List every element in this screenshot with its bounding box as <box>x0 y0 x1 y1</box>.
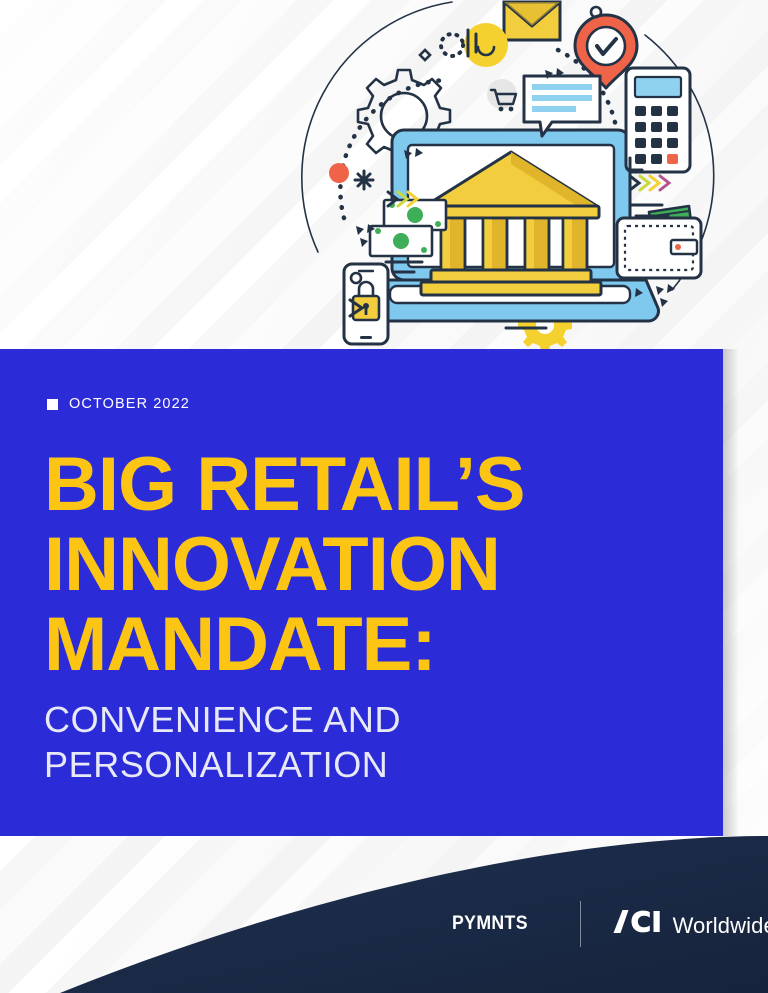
pymnts-logo[interactable]: PYMNTS <box>452 913 528 935</box>
title-line-1: BIG RETAIL’S <box>44 445 714 525</box>
subtitle-line-2: PERSONALIZATION <box>44 742 704 787</box>
logo-divider <box>580 901 581 947</box>
date-label: OCTOBER 2022 <box>69 396 190 412</box>
report-subtitle: CONVENIENCE AND PERSONALIZATION <box>44 697 704 787</box>
aci-worldwide-text: Worldwide <box>673 913 768 939</box>
publication-date: OCTOBER 2022 <box>47 396 190 412</box>
aci-worldwide-logo[interactable]: Worldwide <box>613 910 768 939</box>
subtitle-line-1: CONVENIENCE AND <box>44 697 704 742</box>
report-title: BIG RETAIL’S INNOVATION MANDATE: <box>44 445 714 685</box>
title-line-3: MANDATE: <box>44 605 714 685</box>
report-cover-page: .ln { fill:none; stroke:#243245; stroke-… <box>0 0 768 993</box>
footer-logo-row: PYMNTS Worldwide <box>452 900 768 948</box>
digital-banking-illustration: .ln { fill:none; stroke:#243245; stroke-… <box>300 0 768 360</box>
panel-edge-shadow <box>723 349 739 836</box>
title-line-2: INNOVATION <box>44 525 714 605</box>
square-bullet-icon <box>47 399 58 410</box>
aci-mark-icon <box>613 910 665 938</box>
